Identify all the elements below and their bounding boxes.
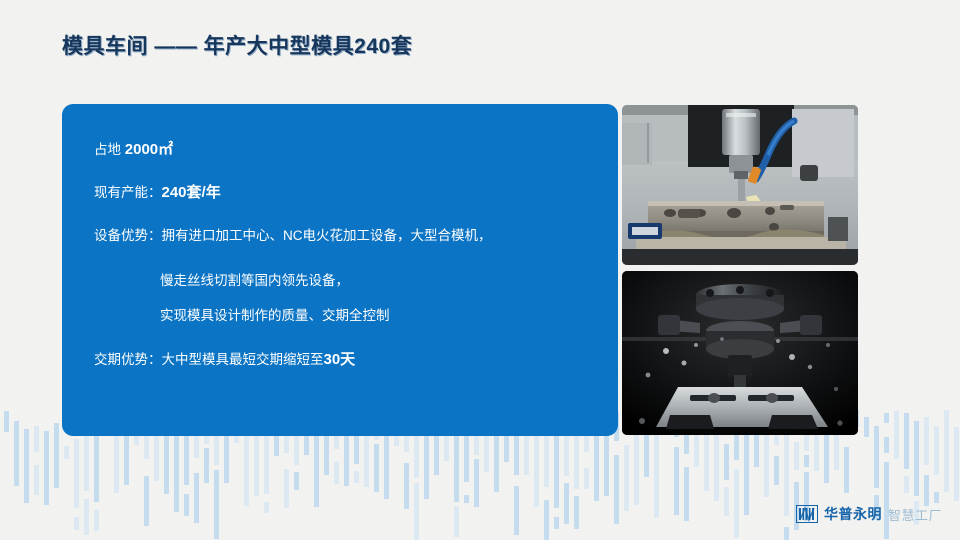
panel-line-equipment-2: 慢走丝线切割等国内领先设备， <box>160 274 349 288</box>
panel-line-leadtime: 交期优势：大中型模具最短交期缩短至30天 <box>94 352 355 367</box>
panel-line-area: 占地 2000㎡ <box>94 142 173 157</box>
photo-cnc-milling-graphic <box>622 105 858 265</box>
photo-cnc-spindle <box>622 271 858 435</box>
photo-cnc-milling-machine <box>622 105 858 265</box>
panel-line-equipment-3: 实现模具设计制作的质量、交期全控制 <box>160 309 390 323</box>
panel-line-capacity: 现有产能：240套/年 <box>94 185 221 200</box>
panel-line-equipment-1: 设备优势：拥有进口加工中心、NC电火花加工设备，大型合模机， <box>94 229 492 243</box>
company-logo: 华普永明 智慧工厂 <box>796 504 942 524</box>
panel-area-label: 占地 <box>94 142 125 157</box>
panel-capacity-value: 240套/年 <box>162 184 221 201</box>
slide-canvas: 模具车间 —— 年产大中型模具240套 占地 2000㎡ 现有产能：240套/年… <box>0 0 960 540</box>
panel-area-unit: ㎡ <box>158 141 173 158</box>
content-panel: 占地 2000㎡ 现有产能：240套/年 设备优势：拥有进口加工中心、NC电火花… <box>62 104 618 436</box>
panel-capacity-label: 现有产能： <box>94 185 162 200</box>
logo-company-name: 华普永明 <box>824 504 882 524</box>
photo-cnc-spindle-graphic <box>622 271 858 435</box>
panel-area-value: 2000 <box>125 141 158 158</box>
panel-leadtime-value: 30天 <box>324 351 356 368</box>
panel-leadtime-label: 交期优势：大中型模具最短交期缩短至 <box>94 352 324 367</box>
page-title: 模具车间 —— 年产大中型模具240套 <box>62 30 412 60</box>
barcode-mark-icon <box>796 505 818 523</box>
logo-tagline: 智慧工厂 <box>888 505 942 524</box>
